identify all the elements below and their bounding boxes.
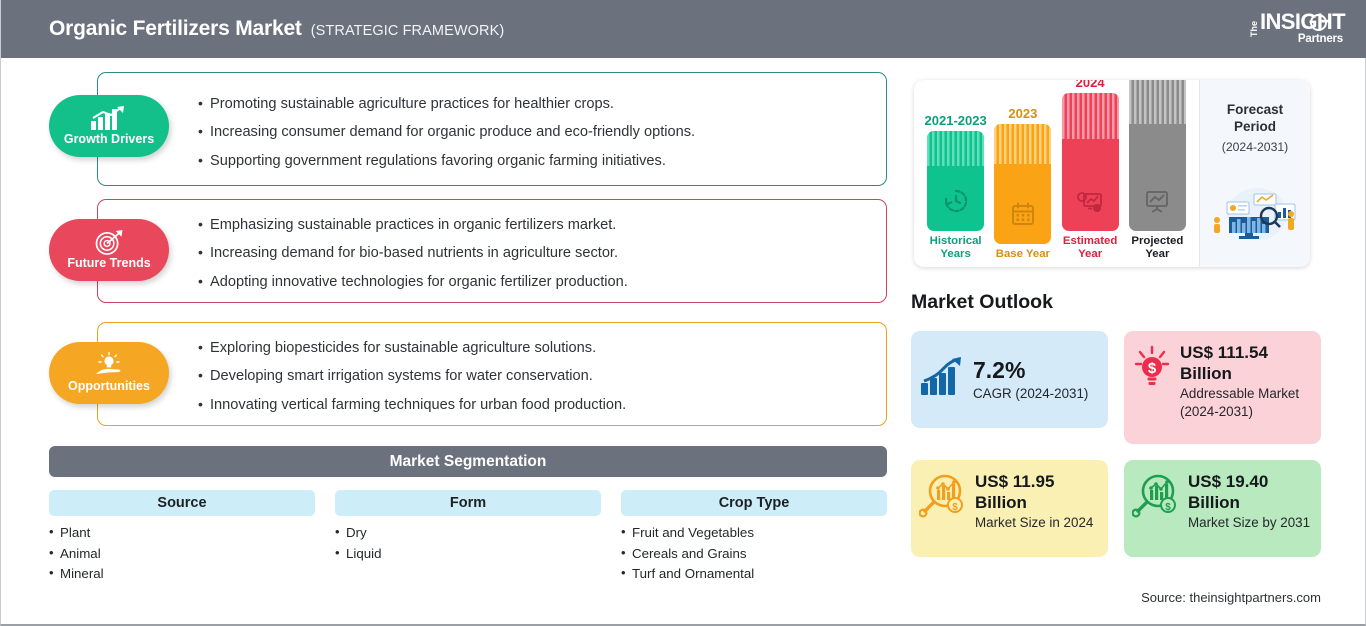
page-title: Organic Fertilizers Market [49, 17, 302, 41]
future-trends-bullets: Emphasizing sustainable practices in org… [98, 200, 886, 302]
forecast-period-title-line1: Forecast [1227, 102, 1283, 119]
list-item: Adopting innovative technologies for org… [198, 275, 870, 290]
outlook-card-value: US$ 111.54 [1180, 343, 1311, 364]
market-segmentation-columns: Source Plant Animal Mineral Form Dry Liq… [49, 490, 887, 588]
list-item: Dry [335, 526, 601, 541]
history-clock-icon [943, 188, 969, 219]
future-trends-label: Future Trends [67, 257, 150, 270]
target-dart-icon [94, 230, 124, 255]
svg-text:$: $ [952, 502, 958, 513]
header-title-wrap: Organic Fertilizers Market (STRATEGIC FR… [49, 17, 504, 41]
list-item: Emphasizing sustainable practices in org… [198, 218, 870, 233]
opportunities-label: Opportunities [68, 380, 150, 393]
outlook-card-label: Market Size in 2024 [975, 514, 1093, 531]
forecast-caption-historical: Historical Years [925, 235, 986, 261]
segment-header-label: Form [450, 495, 486, 511]
outlook-card-value: US$ 11.95 [975, 472, 1093, 493]
list-item: Exploring biopesticides for sustainable … [198, 341, 870, 356]
market-segmentation-header: Market Segmentation [49, 446, 887, 477]
segment-header-source[interactable]: Source [49, 490, 315, 516]
growth-drivers-bullets: Promoting sustainable agriculture practi… [98, 73, 886, 181]
logo-the-text: The [1250, 21, 1259, 37]
outlook-card-label: Market Size by 2031 [1188, 514, 1310, 531]
svg-text:$: $ [1148, 360, 1157, 377]
list-item: Cereals and Grains [621, 547, 887, 562]
outlook-card-text: US$ 19.40 Billion Market Size by 2031 [1188, 472, 1310, 532]
segment-column-form: Form Dry Liquid [335, 490, 601, 588]
list-item: Increasing demand for bio-based nutrient… [198, 246, 870, 261]
infographic-page: Organic Fertilizers Market (STRATEGIC FR… [0, 0, 1366, 626]
segment-column-crop-type: Crop Type Fruit and Vegetables Cereals a… [621, 490, 887, 588]
outlook-card-label: CAGR (2024-2031) [973, 385, 1088, 402]
forecast-period-range: (2024-2031) [1222, 140, 1288, 154]
market-outlook-cards: 7.2% CAGR (2024-2031) $ [911, 331, 1321, 557]
caption-text: Historical Years [930, 235, 982, 260]
list-item: Plant [49, 526, 315, 541]
estimate-graph-icon [1076, 190, 1104, 219]
opportunities-bullets: Exploring biopesticides for sustainable … [98, 323, 886, 425]
outlook-card-text: 7.2% CAGR (2024-2031) [973, 356, 1088, 402]
list-item: Promoting sustainable agriculture practi… [198, 97, 870, 112]
bar-projected [1129, 80, 1186, 231]
caption-text: Projected Year [1131, 235, 1183, 260]
list-item: Fruit and Vegetables [621, 526, 887, 541]
calendar-icon [1010, 201, 1036, 232]
segment-header-crop-type[interactable]: Crop Type [621, 490, 887, 516]
lightbulb-hand-icon [92, 353, 126, 378]
segment-header-form[interactable]: Form [335, 490, 601, 516]
outlook-card-text: US$ 111.54 Billion Addressable Market (2… [1180, 343, 1311, 420]
caption-text: Base Year [996, 248, 1050, 260]
logo-insight-text: INSIGHT [1260, 12, 1345, 33]
circle-ring-icon [1310, 14, 1327, 31]
magnifier-bars-dollar-icon: $ [1132, 472, 1180, 523]
caption-text: Estimated Year [1063, 235, 1117, 260]
opportunities-box: Exploring biopesticides for sustainable … [97, 322, 887, 426]
market-outlook-title: Market Outlook [911, 291, 1053, 314]
forecast-caption-projected: Projected Year [1127, 235, 1188, 261]
growth-drivers-label: Growth Drivers [64, 133, 154, 146]
market-segmentation-title: Market Segmentation [390, 453, 547, 471]
magnifier-bars-dollar-icon: $ [919, 472, 967, 523]
bar-chart-growth-icon [89, 106, 129, 131]
outlook-card-text: US$ 11.95 Billion Market Size in 2024 [975, 472, 1093, 532]
bar-historical [927, 131, 984, 231]
list-item: Turf and Ornamental [621, 567, 887, 582]
list-item: Mineral [49, 567, 315, 582]
forecast-caption-base: Base Year [996, 248, 1050, 261]
growth-drivers-box: Promoting sustainable agriculture practi… [97, 72, 887, 186]
projection-screen-icon [1143, 189, 1171, 219]
outlook-card-addressable-market[interactable]: $ US$ 111.54 Billion Addressable Market … [1124, 331, 1321, 444]
analytics-dashboard-illustration [1207, 184, 1303, 245]
list-item: Increasing consumer demand for organic p… [198, 125, 870, 140]
svg-text:$: $ [1165, 502, 1171, 513]
outlook-card-value-unit: Billion [1180, 364, 1311, 385]
bar-estimated [1062, 93, 1119, 231]
forecast-bar-base: 2023 [992, 106, 1053, 261]
bar-base [994, 124, 1051, 244]
outlook-card-value: US$ 19.40 [1188, 472, 1310, 493]
outlook-card-cagr[interactable]: 7.2% CAGR (2024-2031) [911, 331, 1108, 428]
insight-partners-logo[interactable]: The INSIGHT Partners [1221, 8, 1345, 50]
forecast-caption-estimated: Estimated Year [1060, 235, 1121, 261]
future-trends-box: Emphasizing sustainable practices in org… [97, 199, 887, 303]
outlook-card-market-size-2031[interactable]: $ US$ 19.40 Billion Market Size by 2031 [1124, 460, 1321, 557]
outlook-card-value-unit: Billion [1188, 493, 1310, 514]
segment-column-source: Source Plant Animal Mineral [49, 490, 315, 588]
page-header: Organic Fertilizers Market (STRATEGIC FR… [1, 0, 1366, 58]
future-trends-badge[interactable]: Future Trends [49, 219, 169, 281]
segment-header-label: Crop Type [719, 495, 790, 511]
forecast-bars-chart: 2021-2023 Historical Years [914, 80, 1199, 267]
forecast-bar-projected: 2031 Projected Year [1127, 80, 1188, 261]
outlook-card-label: Addressable Market (2024-2031) [1180, 385, 1311, 419]
outlook-card-value: 7.2% [973, 356, 1088, 384]
forecast-year-label: 2024 [1076, 80, 1105, 90]
list-item: Innovating vertical farming techniques f… [198, 398, 870, 413]
forecast-year-label: 2023 [1008, 106, 1037, 121]
forecast-period-sidebar: Forecast Period (2024-2031) [1199, 80, 1310, 267]
outlook-card-value-unit: Billion [975, 493, 1093, 514]
list-item: Developing smart irrigation systems for … [198, 369, 870, 384]
forecast-bar-estimated: 2024 Estimated Year [1060, 80, 1121, 261]
source-attribution: Source: theinsightpartners.com [1141, 590, 1321, 605]
segment-list-source: Plant Animal Mineral [49, 526, 315, 582]
segment-list-form: Dry Liquid [335, 526, 601, 561]
segment-list-crop-type: Fruit and Vegetables Cereals and Grains … [621, 526, 887, 582]
forecast-period-panel: 2021-2023 Historical Years [914, 80, 1310, 267]
segment-header-label: Source [157, 495, 206, 511]
logo-wordmark: INSIGHT Partners [1260, 12, 1345, 45]
opportunities-badge[interactable]: Opportunities [49, 342, 169, 404]
forecast-period-title-line2: Period [1234, 119, 1276, 136]
outlook-card-market-size-2024[interactable]: $ US$ 11.95 Billion Market Size in 2024 [911, 460, 1108, 557]
logo-partners-text: Partners [1298, 34, 1343, 46]
growth-chart-arrow-icon [919, 355, 965, 404]
page-subtitle: (STRATEGIC FRAMEWORK) [311, 23, 505, 39]
list-item: Liquid [335, 547, 601, 562]
list-item: Supporting government regulations favori… [198, 154, 870, 169]
bulb-dollar-icon: $ [1132, 343, 1172, 394]
forecast-bar-historical: 2021-2023 Historical Years [925, 113, 986, 261]
list-item: Animal [49, 547, 315, 562]
growth-drivers-badge[interactable]: Growth Drivers [49, 95, 169, 157]
forecast-year-label: 2021-2023 [925, 113, 987, 128]
